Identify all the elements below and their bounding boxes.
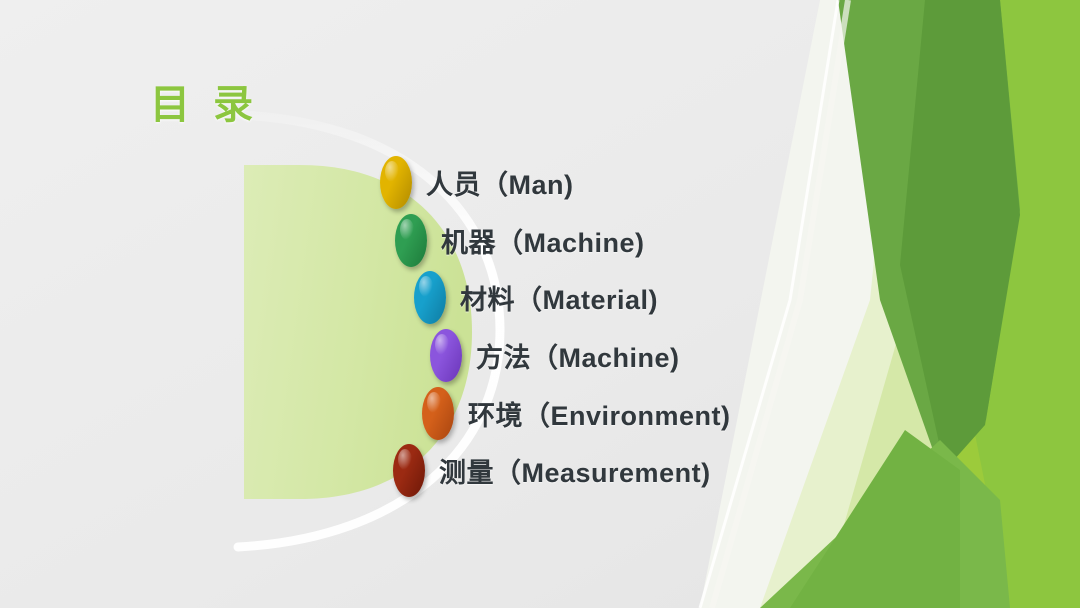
- toc-item-measurement[interactable]: 测量（Measurement): [393, 444, 711, 497]
- toc-item-material[interactable]: 材料（Material): [414, 271, 658, 324]
- toc-item-method[interactable]: 方法（Machine): [430, 329, 680, 382]
- toc-item-label: 机器（Machine): [441, 221, 645, 260]
- bullet-ellipse-cyan: [414, 271, 446, 324]
- bullet-ellipse-yellow: [380, 156, 412, 209]
- toc-item-label: 环境（Environment): [468, 394, 731, 433]
- toc-item-label: 方法（Machine): [476, 336, 680, 375]
- bullet-ellipse-purple: [430, 329, 462, 382]
- toc-item-label: 人员（Man): [426, 163, 574, 202]
- bullet-ellipse-green: [395, 214, 427, 267]
- presentation-slide: 目 录 人员（Man) 机器（Machine) 材料（Material) 方法（…: [0, 0, 1080, 608]
- toc-item-man[interactable]: 人员（Man): [380, 156, 574, 209]
- bullet-ellipse-darkred: [393, 444, 425, 497]
- toc-item-label: 材料（Material): [460, 278, 658, 317]
- toc-item-environment[interactable]: 环境（Environment): [422, 387, 731, 440]
- toc-list: 人员（Man) 机器（Machine) 材料（Material) 方法（Mach…: [0, 0, 1080, 608]
- toc-item-label: 测量（Measurement): [439, 451, 711, 490]
- bullet-ellipse-orange: [422, 387, 454, 440]
- toc-item-machine[interactable]: 机器（Machine): [395, 214, 645, 267]
